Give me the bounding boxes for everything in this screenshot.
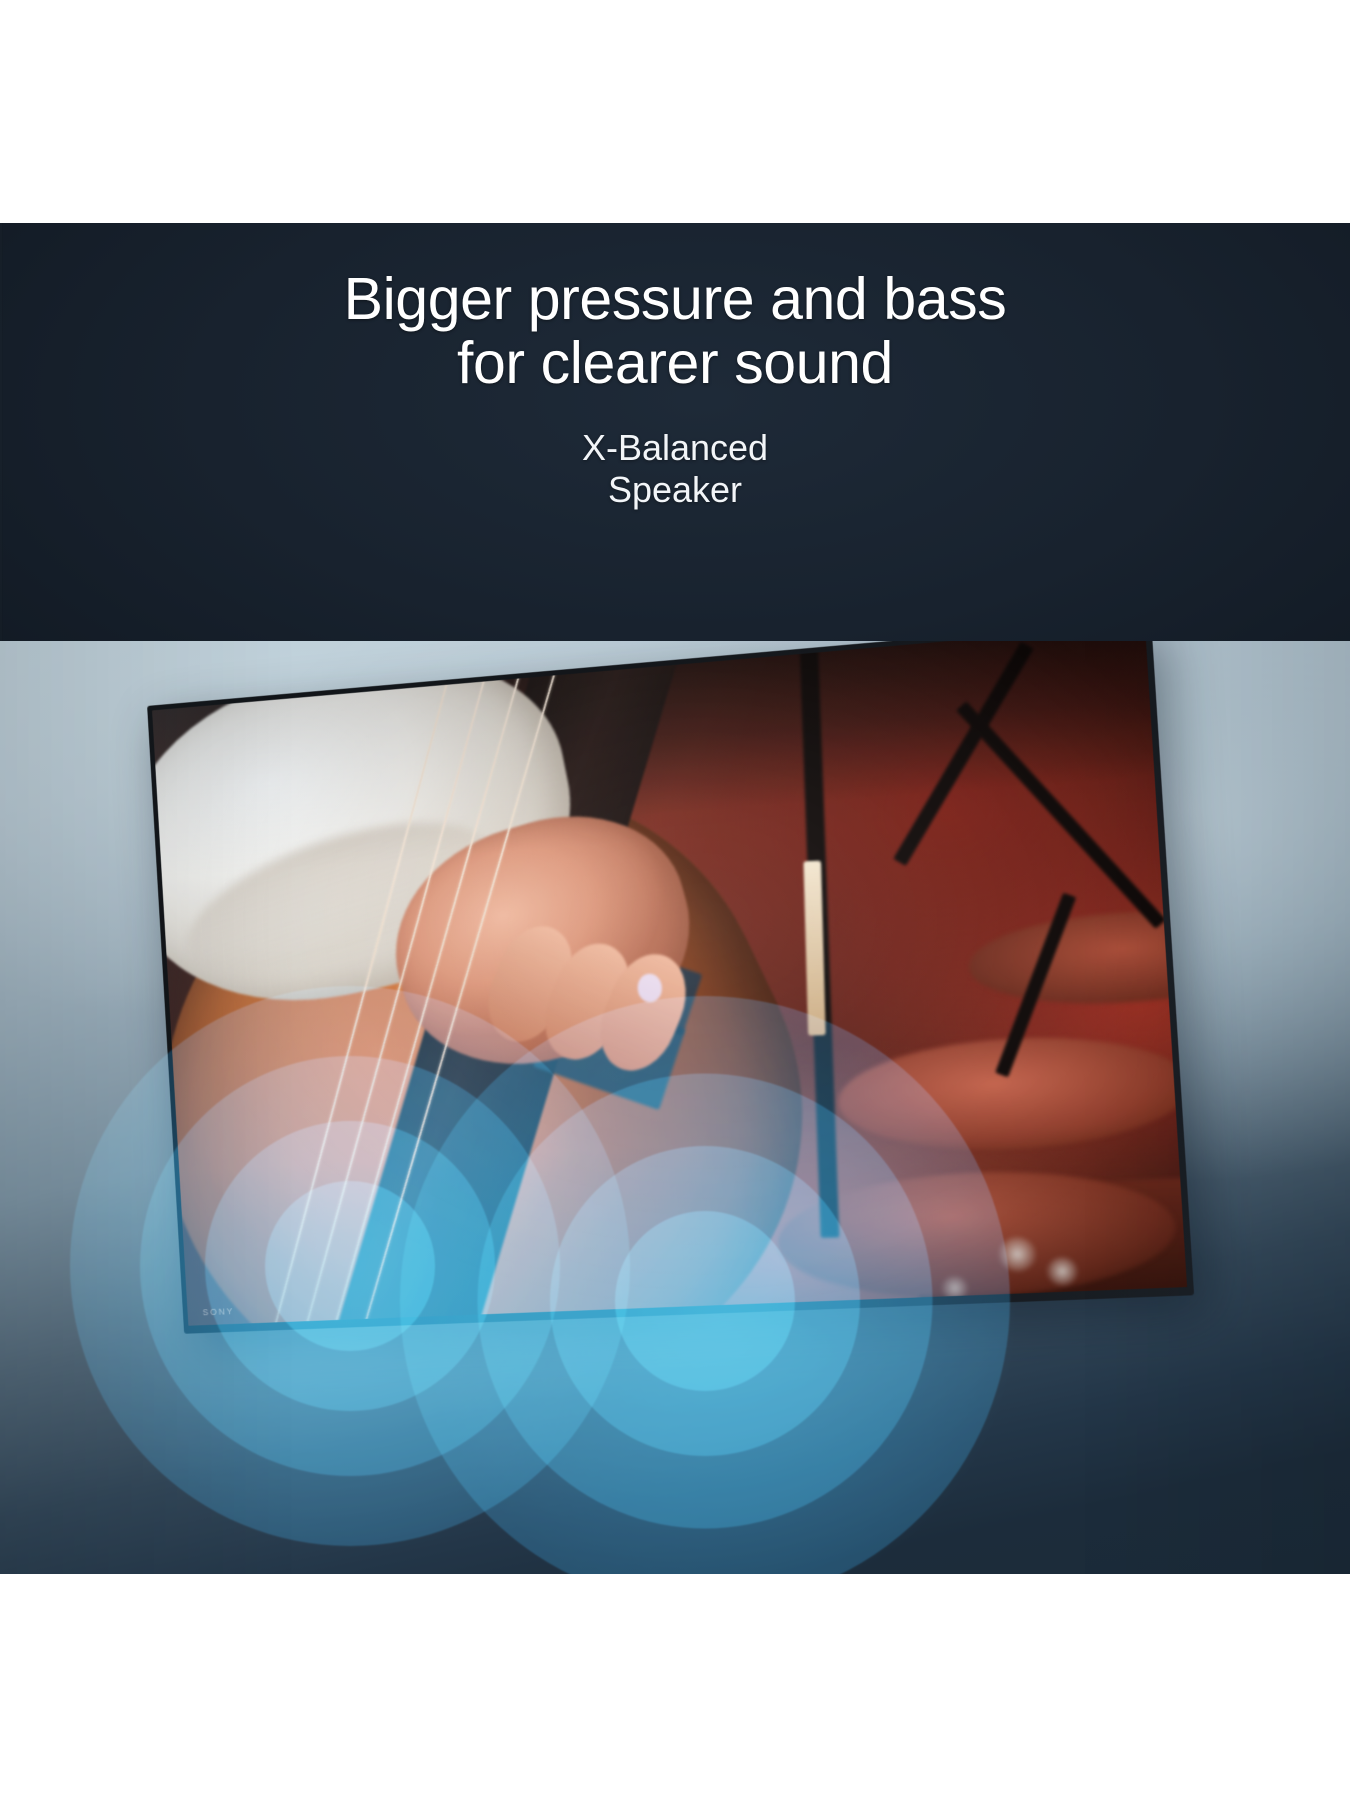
product-scene: SONY [0,641,1350,1574]
bottom-white-margin [0,1574,1350,1800]
screen-content-image [152,641,1187,1326]
page-title: Bigger pressure and bass for clearer sou… [0,267,1350,395]
top-white-margin [0,0,1350,223]
headline-content: Bigger pressure and bass for clearer sou… [0,223,1350,511]
tv-brand-label: SONY [202,1306,234,1317]
headline-line-1: Bigger pressure and bass [0,267,1350,331]
subhead-line-1: X-Balanced [0,427,1350,469]
headline-banner: Bigger pressure and bass for clearer sou… [0,223,1350,641]
page-subtitle: X-Balanced Speaker [0,427,1350,511]
subhead-line-2: Speaker [0,469,1350,511]
tv-bezel: SONY [147,641,1194,1334]
headline-line-2: for clearer sound [0,331,1350,395]
television: SONY [147,641,1194,1334]
promo-image-root: Bigger pressure and bass for clearer sou… [0,0,1350,1800]
tv-screen: SONY [152,641,1187,1326]
